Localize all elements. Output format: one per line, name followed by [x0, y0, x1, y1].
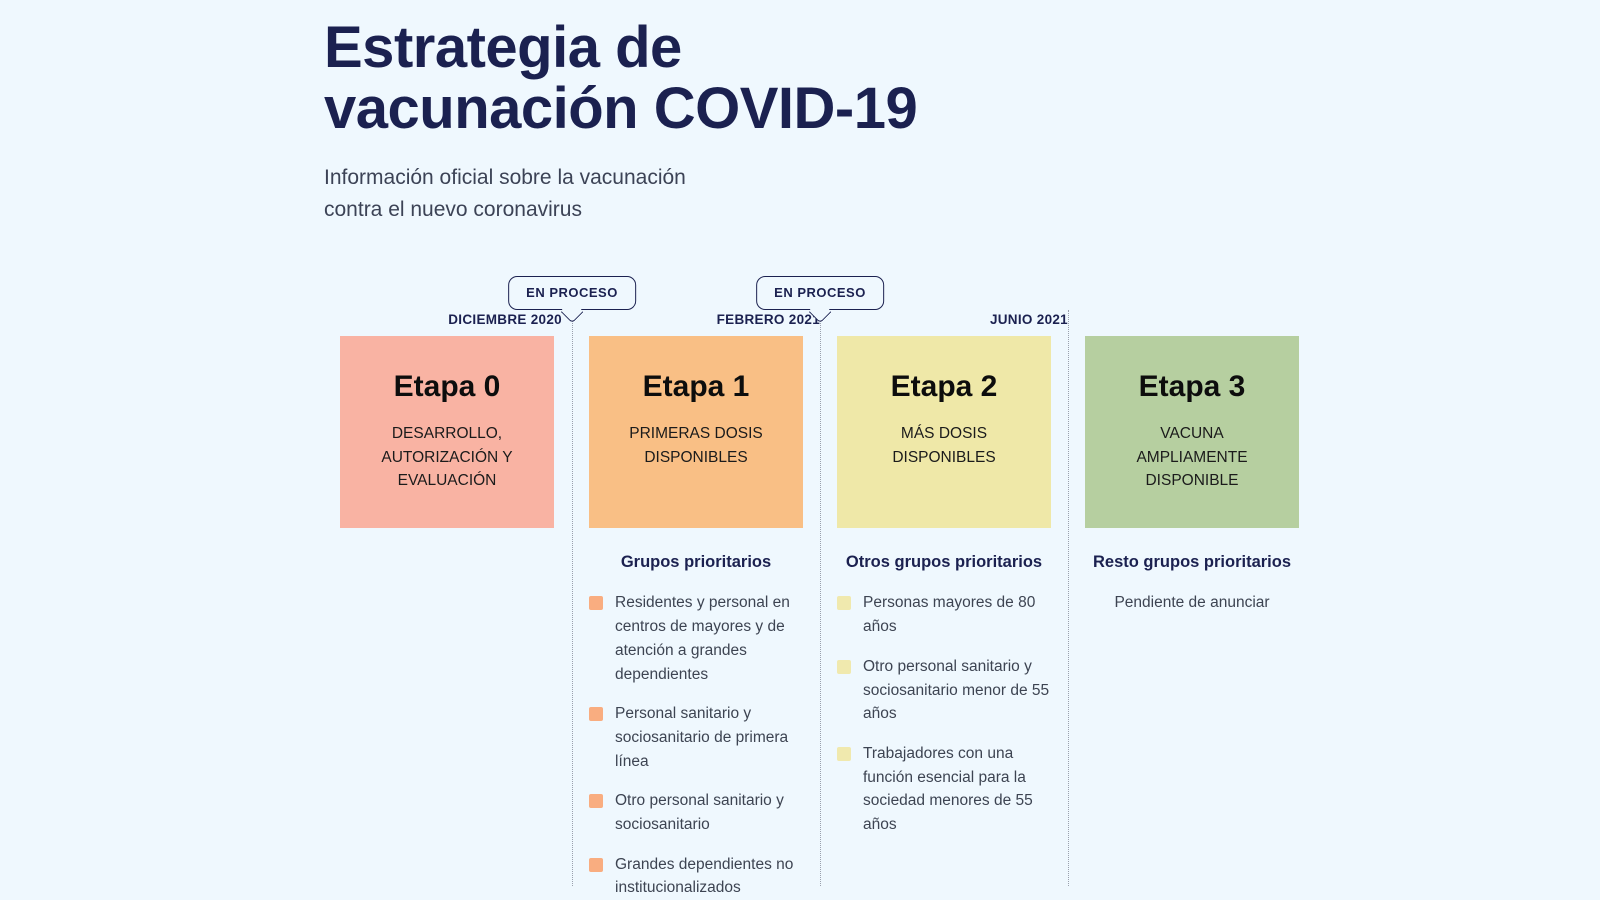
- stage-column-2: Etapa 2 MÁS DOSIS DISPONIBLES Otros grup…: [837, 336, 1051, 853]
- priority-group-item-label: Trabajadores con una función esencial pa…: [863, 745, 1033, 833]
- priority-group-list-1: Residentes y personal en centros de mayo…: [589, 591, 803, 900]
- stage-card-title: Etapa 0: [354, 370, 540, 403]
- group-heading: Resto grupos prioritarios: [1085, 552, 1299, 573]
- bullet-square-icon: [837, 747, 851, 761]
- stage-card-subtitle: PRIMERAS DOSIS DISPONIBLES: [603, 422, 789, 469]
- bullet-square-icon: [589, 596, 603, 610]
- priority-group-item-label: Grandes dependientes no institucionaliza…: [615, 856, 793, 897]
- priority-group-item: Grandes dependientes no institucionaliza…: [589, 853, 803, 900]
- priority-group-item-label: Personal sanitario y sociosanitario de p…: [615, 705, 788, 769]
- priority-group-item: Otro personal sanitario y sociosanitario: [589, 789, 803, 836]
- infographic-root: Estrategia de vacunación COVID-19 Inform…: [0, 0, 1600, 900]
- stage-card-2: Etapa 2 MÁS DOSIS DISPONIBLES: [837, 336, 1051, 528]
- group-heading: Grupos prioritarios: [589, 552, 803, 573]
- priority-group-item-label: Personas mayores de 80 años: [863, 594, 1035, 635]
- column-divider: [1068, 310, 1069, 886]
- stage-card-3: Etapa 3 VACUNA AMPLIAMENTE DISPONIBLE: [1085, 336, 1299, 528]
- stage-card-subtitle: MÁS DOSIS DISPONIBLES: [851, 422, 1037, 469]
- stage-card-1: Etapa 1 PRIMERAS DOSIS DISPONIBLES: [589, 336, 803, 528]
- timeline-date-label-1: DICIEMBRE 2020: [324, 312, 562, 327]
- priority-group-item-label: Residentes y personal en centros de mayo…: [615, 594, 790, 682]
- pending-note: Pendiente de anunciar: [1085, 591, 1299, 615]
- page-title: Estrategia de vacunación COVID-19: [324, 18, 1084, 140]
- column-divider: [820, 310, 821, 886]
- timeline-date-label-2: FEBRERO 2021: [582, 312, 820, 327]
- stage-card-subtitle: VACUNA AMPLIAMENTE DISPONIBLE: [1099, 422, 1285, 493]
- stage-column-1: Etapa 1 PRIMERAS DOSIS DISPONIBLES Grupo…: [589, 336, 803, 900]
- stage-card-title: Etapa 3: [1099, 370, 1285, 403]
- status-badge-wrapper-2: EN PROCESO: [820, 276, 948, 310]
- priority-group-item: Residentes y personal en centros de mayo…: [589, 591, 803, 686]
- column-divider: [572, 310, 573, 886]
- priority-group-item-label: Otro personal sanitario y sociosanitario…: [863, 658, 1049, 722]
- stage-card-subtitle: DESARROLLO, AUTORIZACIÓN Y EVALUACIÓN: [354, 422, 540, 493]
- bullet-square-icon: [837, 660, 851, 674]
- bullet-square-icon: [589, 794, 603, 808]
- priority-group-list-2: Personas mayores de 80 añosOtro personal…: [837, 591, 1051, 836]
- timeline: DICIEMBRE 2020 FEBRERO 2021 JUNIO 2021 E…: [324, 276, 1316, 886]
- bullet-square-icon: [837, 596, 851, 610]
- priority-group-item: Personas mayores de 80 años: [837, 591, 1051, 638]
- priority-group-item: Personal sanitario y sociosanitario de p…: [589, 702, 803, 773]
- bullet-square-icon: [589, 707, 603, 721]
- priority-group-item-label: Otro personal sanitario y sociosanitario: [615, 792, 784, 833]
- stage-column-3: Etapa 3 VACUNA AMPLIAMENTE DISPONIBLE Re…: [1085, 336, 1299, 615]
- status-badge-2: EN PROCESO: [756, 276, 884, 310]
- header: Estrategia de vacunación COVID-19 Inform…: [324, 18, 1084, 227]
- priority-group-item: Trabajadores con una función esencial pa…: [837, 742, 1051, 837]
- status-badge-wrapper-1: EN PROCESO: [572, 276, 700, 310]
- timeline-date-label-3: JUNIO 2021: [830, 312, 1068, 327]
- bullet-square-icon: [589, 858, 603, 872]
- stage-card-title: Etapa 2: [851, 370, 1037, 403]
- group-heading: Otros grupos prioritarios: [837, 552, 1051, 573]
- stage-card-title: Etapa 1: [603, 370, 789, 403]
- priority-group-item: Otro personal sanitario y sociosanitario…: [837, 655, 1051, 726]
- status-badge-1: EN PROCESO: [508, 276, 636, 310]
- stage-column-0: Etapa 0 DESARROLLO, AUTORIZACIÓN Y EVALU…: [340, 336, 554, 528]
- page-subtitle: Información oficial sobre la vacunación …: [324, 162, 1084, 227]
- stage-card-0: Etapa 0 DESARROLLO, AUTORIZACIÓN Y EVALU…: [340, 336, 554, 528]
